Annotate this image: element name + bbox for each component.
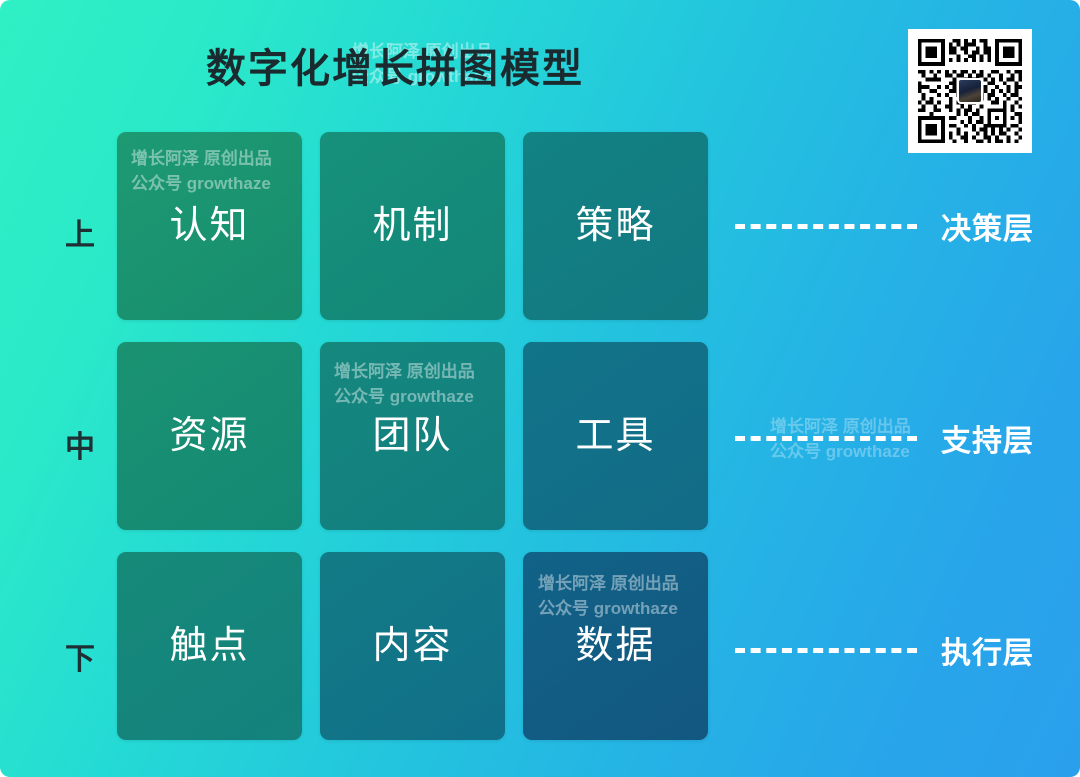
layer-row-execution: 执行层: [735, 630, 1055, 670]
grid-cell-label: 触点: [169, 627, 249, 665]
grid-cell-label: 数据: [575, 627, 655, 665]
grid-cell-label: 团队: [372, 417, 452, 455]
grid-cell-team[interactable]: 团队: [320, 342, 505, 530]
puzzle-grid: 认知 机制 策略 资源 团队 工具 触点 内容 数据: [117, 132, 708, 740]
grid-cell-label: 工具: [575, 417, 655, 455]
grid-cell-tools[interactable]: 工具: [523, 342, 708, 530]
grid-cell-data[interactable]: 数据: [523, 552, 708, 740]
dashed-connector-icon: [735, 436, 917, 441]
row-position-label-middle: 中: [50, 422, 110, 466]
dashed-connector-icon: [735, 224, 917, 229]
grid-cell-label: 资源: [169, 417, 249, 455]
layer-row-support: 支持层: [735, 418, 1055, 458]
grid-cell-resources[interactable]: 资源: [117, 342, 302, 530]
row-position-label-bottom: 下: [50, 634, 110, 678]
grid-cell-mechanism[interactable]: 机制: [320, 132, 505, 320]
layer-label-decision: 决策层: [941, 204, 1034, 248]
grid-cell-label: 认知: [169, 207, 249, 245]
grid-cell-label: 内容: [372, 627, 452, 665]
page-title: 数字化增长拼图模型: [0, 36, 790, 94]
grid-cell-content[interactable]: 内容: [320, 552, 505, 740]
grid-cell-cognition[interactable]: 认知: [117, 132, 302, 320]
dashed-connector-icon: [735, 648, 917, 653]
layer-label-support: 支持层: [941, 416, 1034, 460]
wechat-qr-code[interactable]: [908, 29, 1032, 153]
infographic-canvas: 增长阿泽 原创出品 公众号 growthaze 数字化增长拼图模型: [0, 0, 1080, 777]
row-position-label-top: 上: [50, 210, 110, 254]
qr-center-avatar-icon: [957, 78, 983, 104]
grid-cell-strategy[interactable]: 策略: [523, 132, 708, 320]
layer-row-decision: 决策层: [735, 206, 1055, 246]
grid-cell-label: 策略: [575, 207, 655, 245]
grid-cell-label: 机制: [372, 207, 452, 245]
layer-label-execution: 执行层: [941, 628, 1034, 672]
grid-cell-touchpoints[interactable]: 触点: [117, 552, 302, 740]
